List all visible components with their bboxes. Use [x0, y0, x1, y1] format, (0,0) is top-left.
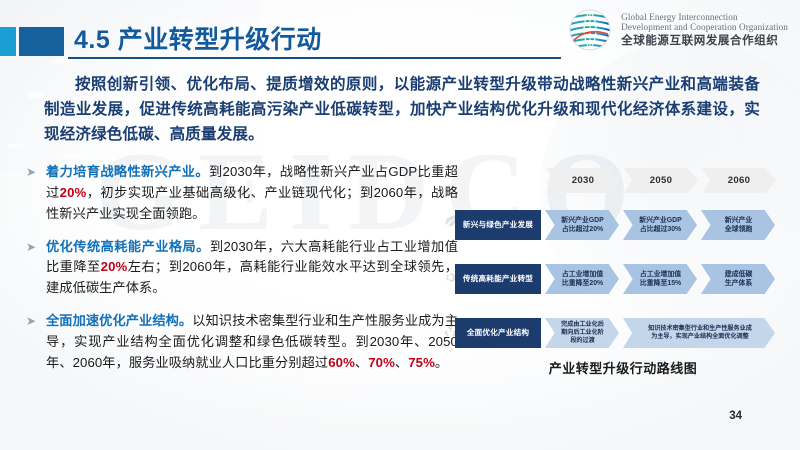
year-chevron-2050: 2050 [624, 168, 698, 193]
list-item: ➤优化传统高耗能产业格局。到2030年，六大高耗能行业占工业增加值比重降至20%… [26, 237, 458, 300]
roadmap-step: 建成低碳生产体系 [701, 264, 775, 294]
roadmap-step: 占工业增加值比重降至20% [545, 264, 619, 294]
list-item: ➤全面加速优化产业结构。以知识技术密集型行业和生产性服务业成为主导，实现产业结构… [26, 311, 458, 374]
roadmap-step: 新兴产业GDP占比超过20% [545, 210, 619, 240]
accent-bar-cyan [0, 27, 16, 56]
bullet-lead-in: 着力培育战略性新兴产业。 [46, 164, 209, 179]
logo-cn-name: 全球能源互联网发展合作组织 [621, 35, 788, 48]
bullet-highlight-2: 70% [368, 355, 395, 370]
logo-text-block: Global Energy Interconnection Developmen… [621, 12, 788, 48]
roadmap-category-label: 新兴与绿色产业发展 [455, 210, 541, 240]
year-header-row: 2030 2050 2060 [546, 168, 776, 193]
bullet-highlight-1: 20% [101, 259, 128, 274]
title-underline [68, 57, 561, 59]
logo-en-line2: Development and Cooperation Organization [621, 22, 788, 33]
year-chevron-2060: 2060 [702, 168, 776, 193]
bullet-text-seg2: ，初步实现产业基础高级化、产业链现代化；到2060年，战略性新兴产业实现全面领跑… [46, 185, 458, 221]
bullet-text-seg4: 。 [435, 355, 448, 370]
slide-root: GEIDCO 4.5 产业转型升级行动 [0, 0, 800, 450]
year-chevron-2030: 2030 [546, 168, 620, 193]
roadmap-step: 新兴产业GDP占比超过30% [623, 210, 697, 240]
roadmap-category-label: 传统高耗能产业转型 [455, 264, 541, 294]
chevron-right-icon: ➤ [26, 242, 39, 252]
globe-logo-icon [567, 7, 613, 53]
bullet-list: ➤着力培育战略性新兴产业。到2030年，战略性新兴产业占GDP比重超过20%，初… [26, 162, 458, 386]
roadmap-row-structure: 全面优化产业结构 完成由工业化后期向后工业化阶段的过渡 知识技术密集型行业和生产… [455, 318, 775, 348]
organization-logo: Global Energy Interconnection Developmen… [567, 7, 788, 53]
bullet-text-seg2: 、 [355, 355, 368, 370]
roadmap-diagram: 2030 2050 2060 新兴与绿色产业发展 新兴产业GDP占比超过20% … [455, 168, 791, 380]
bullet-lead-in: 全面加速优化产业结构。 [46, 313, 192, 328]
bullet-highlight-1: 60% [328, 355, 355, 370]
accent-bar-navy [19, 27, 64, 56]
chevron-right-icon: ➤ [26, 167, 39, 177]
bullet-lead-in: 优化传统高耗能产业格局。 [46, 239, 210, 254]
bullet-highlight-1: 20% [60, 185, 87, 200]
roadmap-row-emerging: 新兴与绿色产业发展 新兴产业GDP占比超过20% 新兴产业GDP占比超过30% … [455, 210, 775, 240]
bullet-text-seg3: 、 [395, 355, 408, 370]
roadmap-category-label: 全面优化产业结构 [455, 318, 541, 348]
roadmap-step: 占工业增加值比重降至15% [623, 264, 697, 294]
page-title: 4.5 产业转型升级行动 [74, 20, 322, 56]
chevron-right-icon: ➤ [26, 316, 39, 326]
diagram-caption: 产业转型升级行动路线图 [455, 358, 791, 377]
roadmap-row-highenergy: 传统高耗能产业转型 占工业增加值比重降至20% 占工业增加值比重降至15% 建成… [455, 264, 775, 294]
page-number: 34 [729, 410, 742, 422]
list-item: ➤着力培育战略性新兴产业。到2030年，战略性新兴产业占GDP比重超过20%，初… [26, 162, 458, 225]
bullet-highlight-3: 75% [408, 355, 435, 370]
lead-paragraph: 按照创新引领、优化布局、提质增效的原则，以能源产业转型升级带动战略性新兴产业和高… [44, 72, 760, 147]
roadmap-step: 新兴产业全球领跑 [701, 210, 775, 240]
roadmap-step: 知识技术密集型行业和生产性服务业成为主导，实现产业结构全面优化调整 [623, 318, 775, 348]
header-accent-bars [0, 27, 64, 56]
logo-en-line1: Global Energy Interconnection [621, 12, 788, 23]
roadmap-step: 完成由工业化后期向后工业化阶段的过渡 [545, 318, 619, 348]
